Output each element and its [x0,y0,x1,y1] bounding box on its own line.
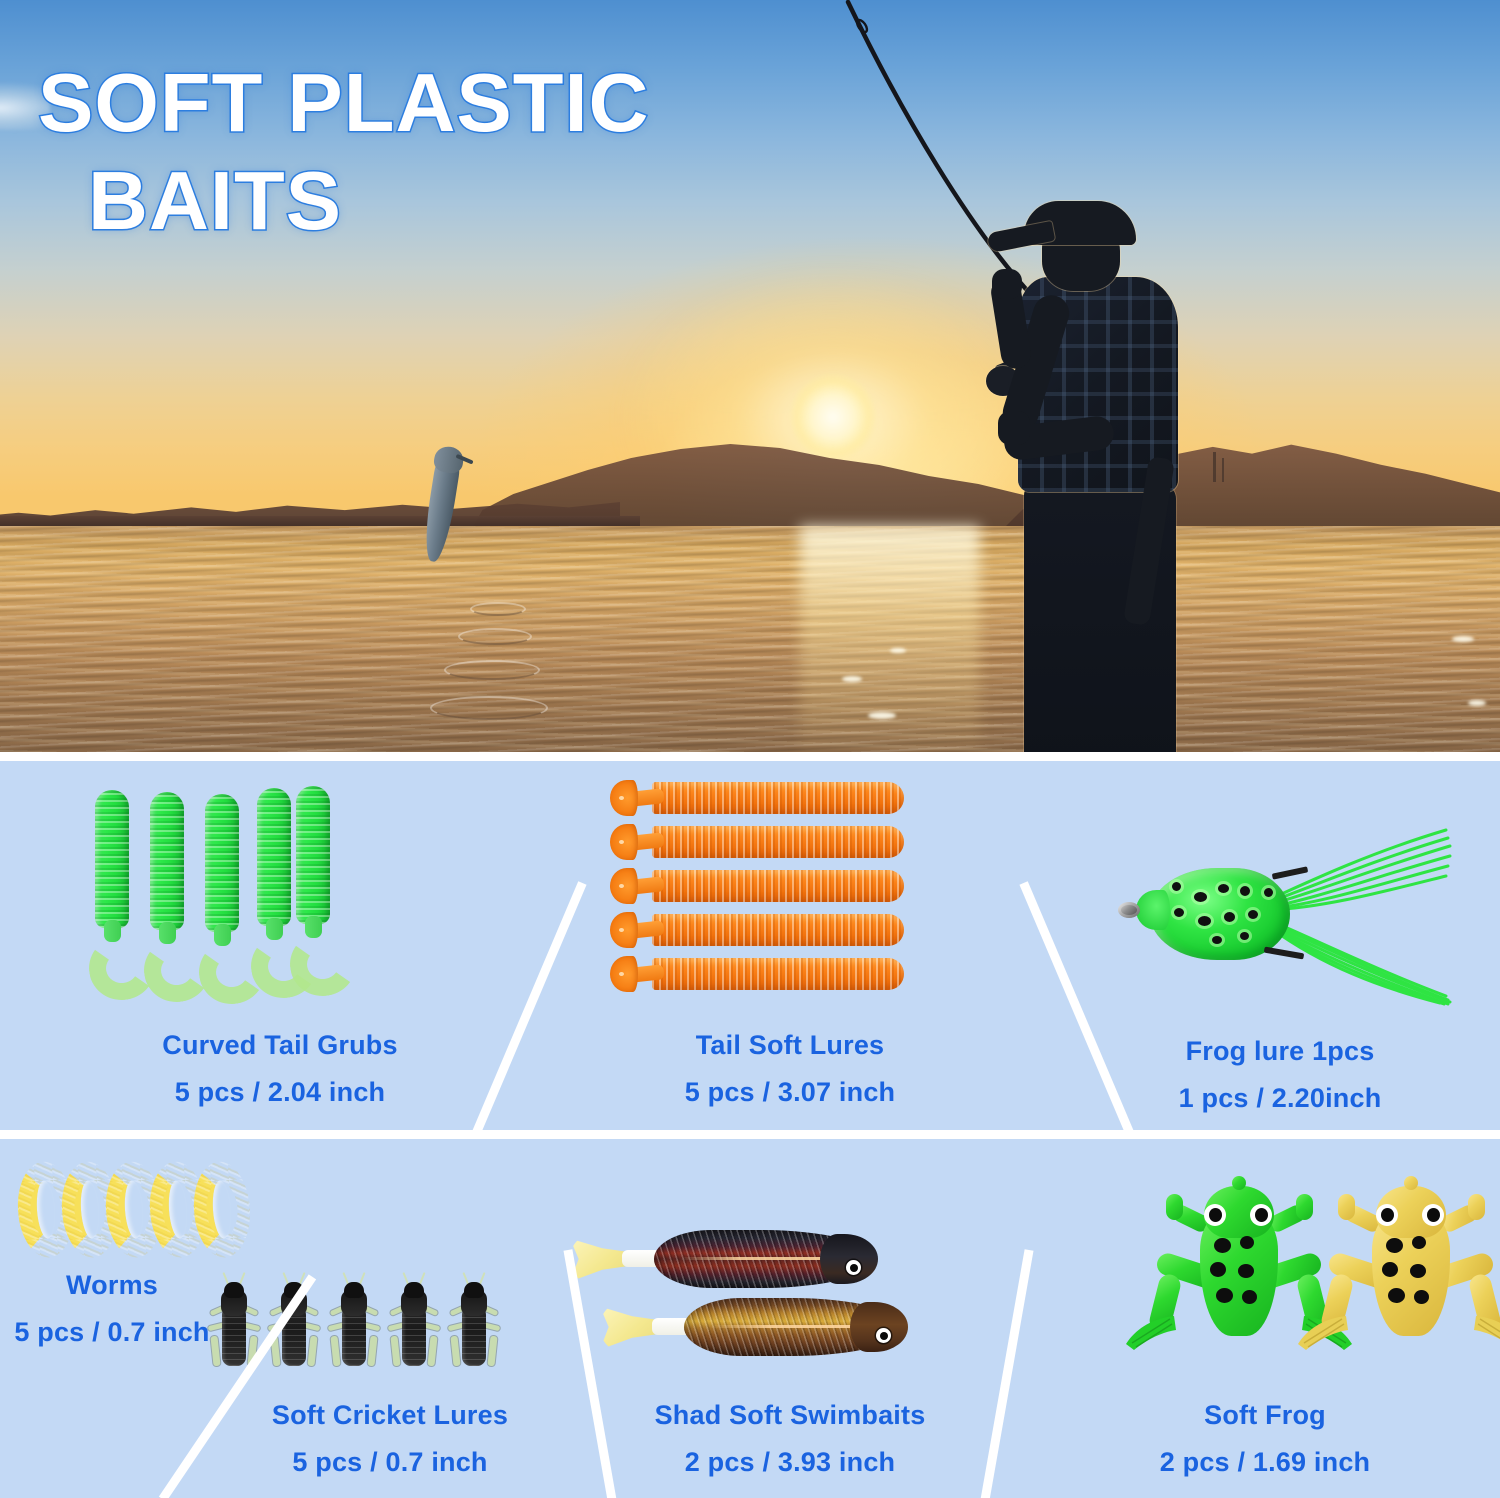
worm-ribbing [191,1160,254,1260]
grub-body [296,786,330,924]
water-glint [1452,636,1474,642]
cricket-head [464,1282,484,1298]
shad-swimbait-gold [600,1290,910,1362]
frog-spot [1194,892,1207,902]
product-cell-shad-soft-swimbaits[interactable]: Shad Soft Swimbaits 2 pcs / 3.93 inch [560,1140,1020,1498]
caption-frog-lure: Frog lure 1pcs 1 pcs / 2.20inch [1060,1036,1500,1114]
frog-eye-right [1250,1204,1272,1226]
water-glint [890,648,906,653]
frog-spot [1172,882,1181,891]
frog-body [1150,868,1290,960]
cricket-hind-leg [367,1336,377,1367]
frog-hand-right [1468,1194,1485,1220]
hero-banner: SOFT PLASTIC BAITS [0,0,1500,752]
frog-spot [1212,936,1222,944]
frog-spot [1214,1238,1231,1253]
product-spec: 5 pcs / 2.04 inch [0,1077,560,1108]
frog-webbed-foot-left [1296,1310,1348,1352]
line-tie-eyelet [1118,902,1140,918]
frog-skirt-lower [1262,910,1452,1006]
frog-hand-left [1338,1194,1355,1220]
product-name: Soft Frog [1030,1400,1500,1431]
product-spec: 1 pcs / 2.20inch [1060,1083,1500,1114]
upper-hand [992,269,1022,299]
frog-spot [1210,1262,1226,1277]
product-spec: 2 pcs / 3.93 inch [560,1447,1020,1478]
lure-body [652,826,904,858]
product-name: Tail Soft Lures [500,1030,1080,1061]
cricket-hind-leg [390,1336,400,1367]
frog-spot [1386,1238,1403,1253]
grub-body [95,790,129,928]
lure-body [652,958,904,990]
caption-soft-frog: Soft Frog 2 pcs / 1.69 inch [1030,1400,1500,1478]
swimbait-eye [876,1328,891,1343]
frog-spot [1198,916,1211,926]
product-name: Soft Cricket Lures [180,1400,600,1431]
water-ripple [430,696,548,720]
swimbait-eye [846,1260,861,1275]
divider-horizontal-mid [0,1130,1500,1139]
product-spec: 5 pcs / 0.7 inch [180,1447,600,1478]
lure-paddle-fin [610,868,638,904]
lure-paddle-fin [610,912,638,948]
lower-hand [998,411,1030,445]
caption-shad-soft-swimbaits: Shad Soft Swimbaits 2 pcs / 3.93 inch [560,1400,1020,1478]
cricket-hind-leg [210,1336,220,1367]
water-ripple [444,660,540,680]
frog-spot [1240,932,1249,940]
caption-tail-soft-lures: Tail Soft Lures 5 pcs / 3.07 inch [500,1030,1080,1108]
product-spec: 5 pcs / 3.07 inch [500,1077,1080,1108]
divider-top [0,752,1500,761]
title-line-2: BAITS [88,156,649,246]
lure-body [652,914,904,946]
title-line-1: SOFT PLASTIC [38,58,649,148]
swimbait-head [820,1234,878,1284]
cricket-hind-leg [487,1336,497,1367]
frog-spot [1238,1264,1254,1278]
hero-title: SOFT PLASTIC BAITS [38,58,649,245]
cricket-head [344,1282,364,1298]
lure-paddle-fin [610,956,638,992]
frog-snout [1232,1176,1246,1190]
frog-spot [1388,1288,1405,1303]
worm-bait [103,1161,154,1260]
swimbait-head [850,1302,908,1352]
frog-spot [1412,1236,1426,1249]
fisherman-silhouette [960,165,1240,752]
cricket-hind-leg [307,1336,317,1367]
water-glint [868,712,896,719]
grub-body [150,792,184,930]
frog-spot [1174,908,1184,917]
lake-water [0,526,1500,752]
frog-snout [1404,1176,1418,1190]
worm-bait [147,1161,198,1260]
cricket-lure [212,1280,256,1372]
frog-spot [1224,912,1235,922]
water-ripple [470,602,526,616]
frog-spot [1410,1264,1426,1278]
water-glint [1468,700,1486,706]
product-listing-image: SOFT PLASTIC BAITS [0,0,1500,1498]
cricket-hind-leg [330,1336,340,1367]
frog-webbed-foot-right [1474,1310,1500,1352]
soft-frog-green [1138,1178,1338,1393]
caption-soft-cricket-lures: Soft Cricket Lures 5 pcs / 0.7 inch [180,1400,600,1478]
worm-bait [15,1161,66,1260]
frog-spot [1414,1290,1429,1304]
cricket-lure [392,1280,436,1372]
frog-nose [1136,890,1170,930]
soft-frog-gold [1310,1178,1500,1393]
frog-spot [1382,1262,1398,1277]
frog-eye-right [1422,1204,1444,1226]
frog-spot [1248,910,1258,919]
lure-body [652,870,904,902]
water-glint [842,676,862,682]
product-name: Frog lure 1pcs [1060,1036,1500,1067]
product-spec: 2 pcs / 1.69 inch [1030,1447,1500,1478]
cricket-lure [332,1280,376,1372]
frog-spot [1240,1236,1254,1249]
product-cell-curved-tail-grubs[interactable]: Curved Tail Grubs 5 pcs / 2.04 inch [0,752,560,1130]
sun-icon [790,374,876,460]
cricket-hind-leg [427,1336,437,1367]
worm-bait [191,1161,242,1260]
frog-hand-left [1166,1194,1183,1220]
frog-spot [1218,884,1229,893]
frog-spot [1240,886,1250,896]
product-name: Shad Soft Swimbaits [560,1400,1020,1431]
cricket-head [404,1282,424,1298]
worm-bait [59,1161,110,1260]
topwater-frog-lure [1112,832,1442,992]
frog-webbed-foot-left [1124,1310,1176,1352]
product-name: Curved Tail Grubs [0,1030,560,1061]
cricket-head [224,1282,244,1298]
frog-eye-left [1204,1204,1226,1226]
frog-spot [1242,1290,1257,1304]
product-grid: Curved Tail Grubs 5 pcs / 2.04 inch [0,752,1500,1498]
frog-spot [1264,888,1273,897]
shad-swimbait-dark [570,1222,880,1294]
water-ripple [458,628,532,645]
grub-body [257,788,291,926]
grub-body [205,794,239,932]
cricket-lure [452,1280,496,1372]
caption-curved-tail-grubs: Curved Tail Grubs 5 pcs / 2.04 inch [0,1030,560,1108]
lure-paddle-fin [610,824,638,860]
frog-spot [1216,1288,1233,1303]
product-cell-soft-frog[interactable]: Soft Frog 2 pcs / 1.69 inch [1030,1140,1500,1498]
product-cell-tail-soft-lures[interactable]: Tail Soft Lures 5 pcs / 3.07 inch [500,752,1080,1130]
lure-body [652,782,904,814]
cricket-hind-leg [450,1336,460,1367]
frog-eye-left [1376,1204,1398,1226]
lure-paddle-fin [610,780,638,816]
